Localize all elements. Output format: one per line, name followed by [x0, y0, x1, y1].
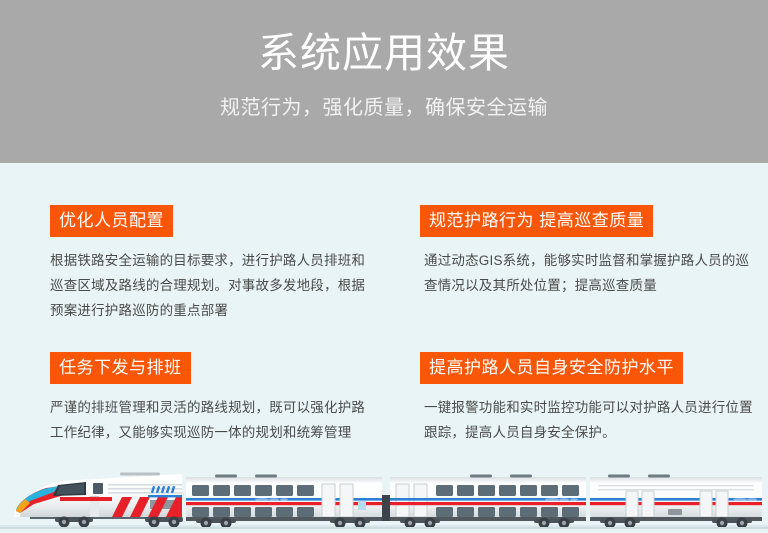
features-grid: 优化人员配置 根据铁路安全运输的目标要求，进行护路人员排班和巡查区域及路线的合理… — [0, 163, 768, 445]
page-title: 系统应用效果 — [0, 0, 768, 79]
feature-card-2: 规范护路行为 提高巡查质量 通过动态GIS系统，能够实时监督和掌握护路人员的巡查… — [384, 163, 768, 323]
feature-badge: 任务下发与排班 — [50, 352, 191, 384]
features-section: 优化人员配置 根据铁路安全运输的目标要求，进行护路人员排班和巡查区域及路线的合理… — [0, 163, 768, 463]
page-subtitle: 规范行为，强化质量，确保安全运输 — [0, 79, 768, 121]
feature-card-4: 提高护路人员自身安全防护水平 一键报警功能和实时监控功能可以对护路人员进行位置跟… — [384, 323, 768, 445]
feature-badge: 优化人员配置 — [50, 205, 173, 237]
feature-badge: 规范护路行为 提高巡查质量 — [420, 205, 653, 237]
feature-description: 通过动态GIS系统，能够实时监督和掌握护路人员的巡查情况以及其所处位置；提高巡查… — [420, 237, 762, 298]
promo-page: 系统应用效果 规范行为，强化质量，确保安全运输 优化人员配置 根据铁路安全运输的… — [0, 0, 768, 533]
train-icon — [0, 455, 768, 533]
passenger-car-1 — [186, 475, 382, 529]
feature-description: 严谨的排班管理和灵活的路线规划，既可以强化护路工作纪律，又能够实现巡防一体的规划… — [50, 384, 370, 445]
page-header: 系统应用效果 规范行为，强化质量，确保安全运输 — [0, 0, 768, 163]
baggage-car — [590, 475, 762, 529]
feature-badge: 提高护路人员自身安全防护水平 — [420, 352, 683, 384]
locomotive — [14, 473, 183, 528]
coupling — [382, 495, 390, 521]
feature-description: 根据铁路安全运输的目标要求，进行护路人员排班和巡查区域及路线的合理规划。对事故多… — [50, 237, 370, 323]
train-illustration — [0, 455, 768, 533]
passenger-car-2 — [390, 475, 586, 529]
feature-card-1: 优化人员配置 根据铁路安全运输的目标要求，进行护路人员排班和巡查区域及路线的合理… — [0, 163, 384, 323]
rail-line — [0, 527, 768, 529]
feature-card-3: 任务下发与排班 严谨的排班管理和灵活的路线规划，既可以强化护路工作纪律，又能够实… — [0, 323, 384, 445]
feature-description: 一键报警功能和实时监控功能可以对护路人员进行位置跟踪，提高人员自身安全保护。 — [420, 384, 762, 445]
